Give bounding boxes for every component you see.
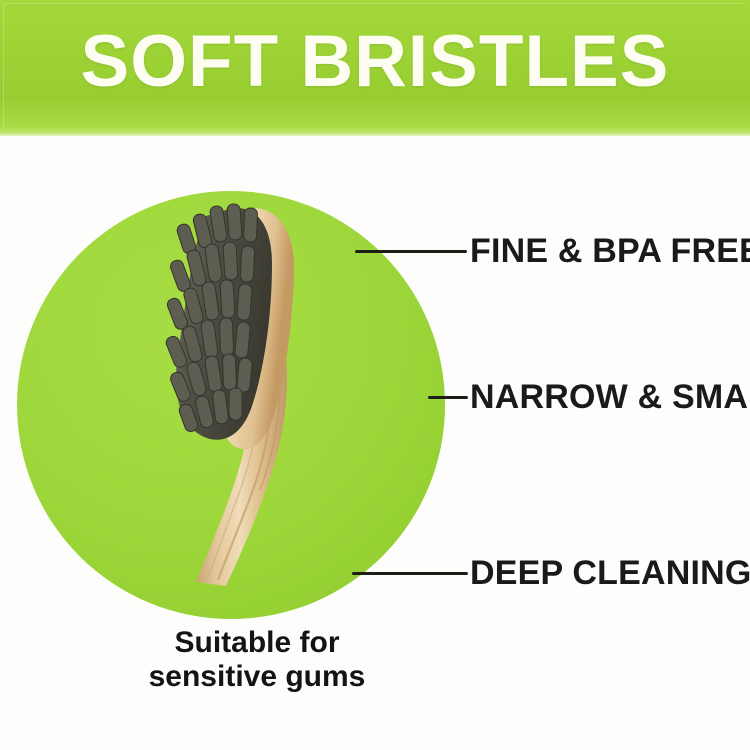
caption-line-2: sensitive gums [92, 660, 422, 694]
caption-line-1: Suitable for [92, 626, 422, 660]
leader-line-fine-bpa-free [355, 250, 467, 253]
feature-label-fine-bpa-free: FINE & BPA FREE [470, 232, 750, 270]
product-infographic: SOFT BRISTLES [0, 0, 750, 750]
header-banner: SOFT BRISTLES [0, 0, 750, 136]
feature-label-narrow-small: NARROW & SMALL [470, 378, 750, 416]
leader-line-deep-cleaning [352, 572, 468, 575]
toothbrush-image [130, 190, 380, 590]
leader-line-narrow-small [428, 396, 468, 399]
caption: Suitable for sensitive gums [92, 626, 422, 694]
page-title: SOFT BRISTLES [0, 20, 750, 104]
feature-label-deep-cleaning: DEEP CLEANING [470, 554, 750, 592]
